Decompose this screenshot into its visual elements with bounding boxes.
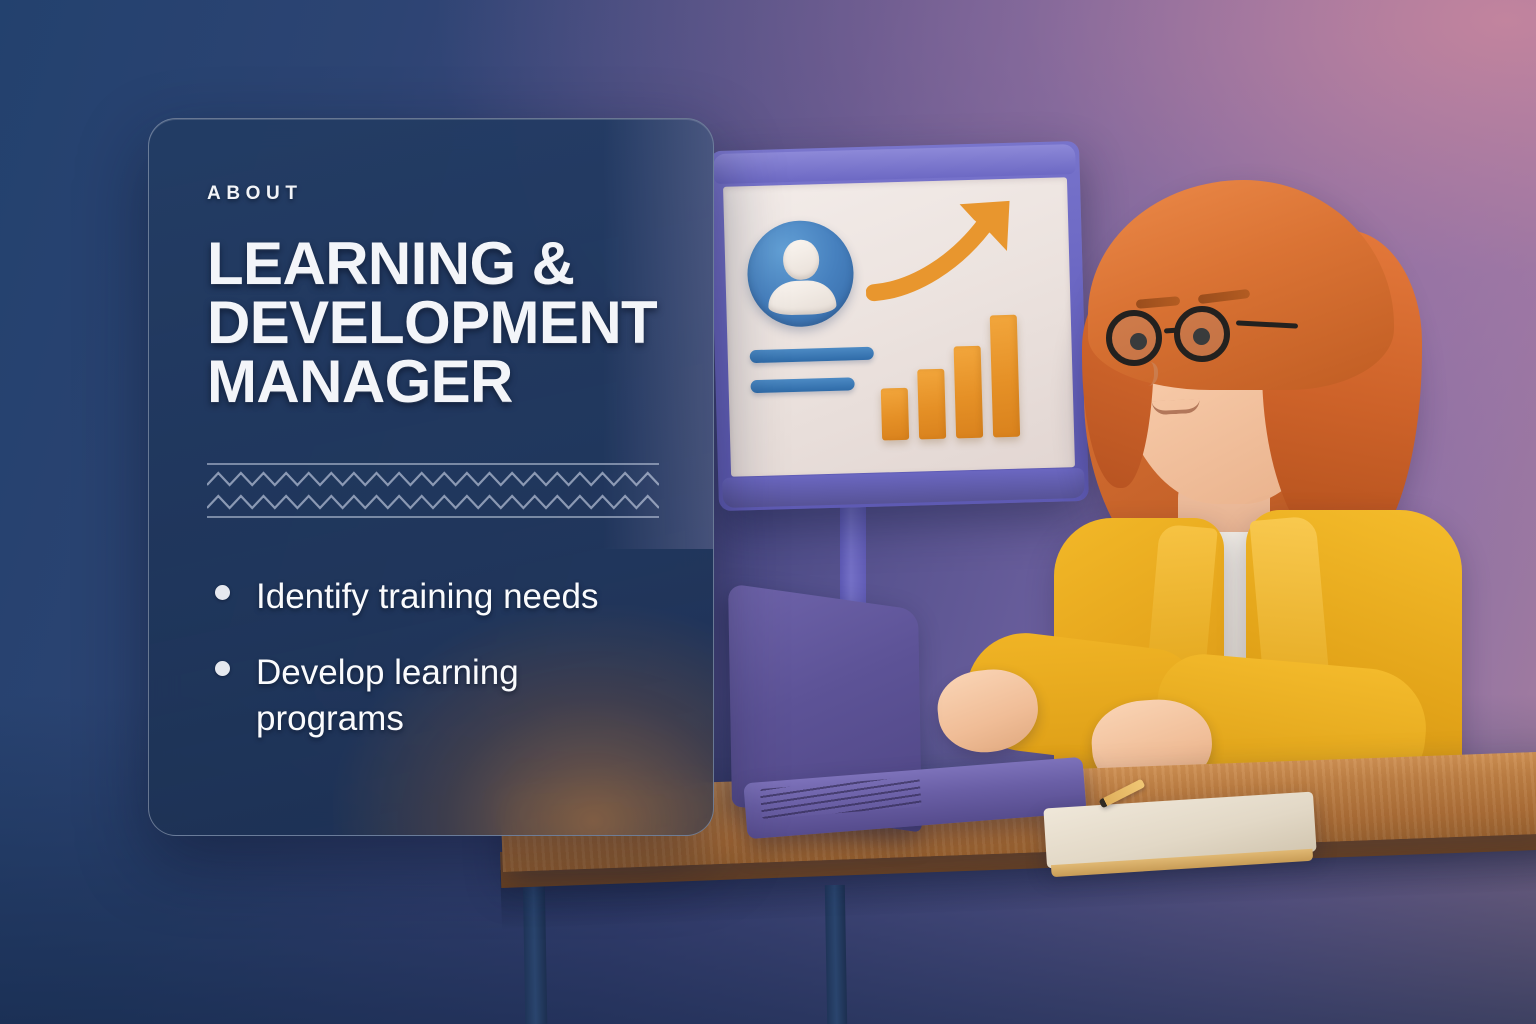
- divider-zigzag-row-1: [207, 470, 659, 488]
- bar-2: [917, 369, 946, 440]
- about-info-card: ABOUT Learning & Development Manager: [148, 118, 714, 836]
- list-item-label: Identify training needs: [256, 574, 598, 620]
- card-eyebrow-label: ABOUT: [207, 183, 655, 205]
- bar-4: [990, 315, 1020, 438]
- bar-3: [954, 346, 984, 439]
- divider-zigzag-row-2: [207, 493, 659, 511]
- text-line-icon-2: [750, 377, 854, 393]
- board-face: [723, 177, 1075, 476]
- text-line-icon-1: [750, 347, 874, 363]
- page-title: Learning & Development Manager: [207, 235, 655, 411]
- divider-rule-top: [207, 463, 659, 465]
- presentation-board: [714, 146, 1084, 666]
- glasses-temple: [1236, 320, 1298, 328]
- glasses-lens-right: [1174, 306, 1230, 362]
- glasses-lens-left: [1106, 310, 1162, 366]
- bullet-dot-icon: [215, 585, 230, 600]
- responsibilities-list: Identify training needs Develop learning…: [207, 574, 655, 743]
- avatar-head-shape: [783, 239, 820, 280]
- bullet-dot-icon: [215, 661, 230, 676]
- list-item: Develop learning programs: [207, 650, 655, 742]
- list-item-label: Develop learning programs: [256, 650, 636, 742]
- divider-rule-bottom: [207, 516, 659, 518]
- laptop-keyboard: [760, 777, 922, 819]
- card-content: ABOUT Learning & Development Manager: [149, 119, 713, 742]
- nose: [1138, 362, 1158, 386]
- desk-leg-left: [523, 872, 548, 1024]
- desk-leg-right: [825, 885, 847, 1024]
- user-avatar-icon: [746, 219, 855, 328]
- growth-arrow-icon: [863, 192, 1046, 317]
- scene-root: ABOUT Learning & Development Manager: [0, 0, 1536, 1024]
- bar-chart-icon: [881, 388, 909, 441]
- list-item: Identify training needs: [207, 574, 655, 620]
- zigzag-divider: [207, 463, 659, 517]
- round-glasses-icon: [1102, 304, 1302, 374]
- avatar-body-shape: [768, 280, 837, 316]
